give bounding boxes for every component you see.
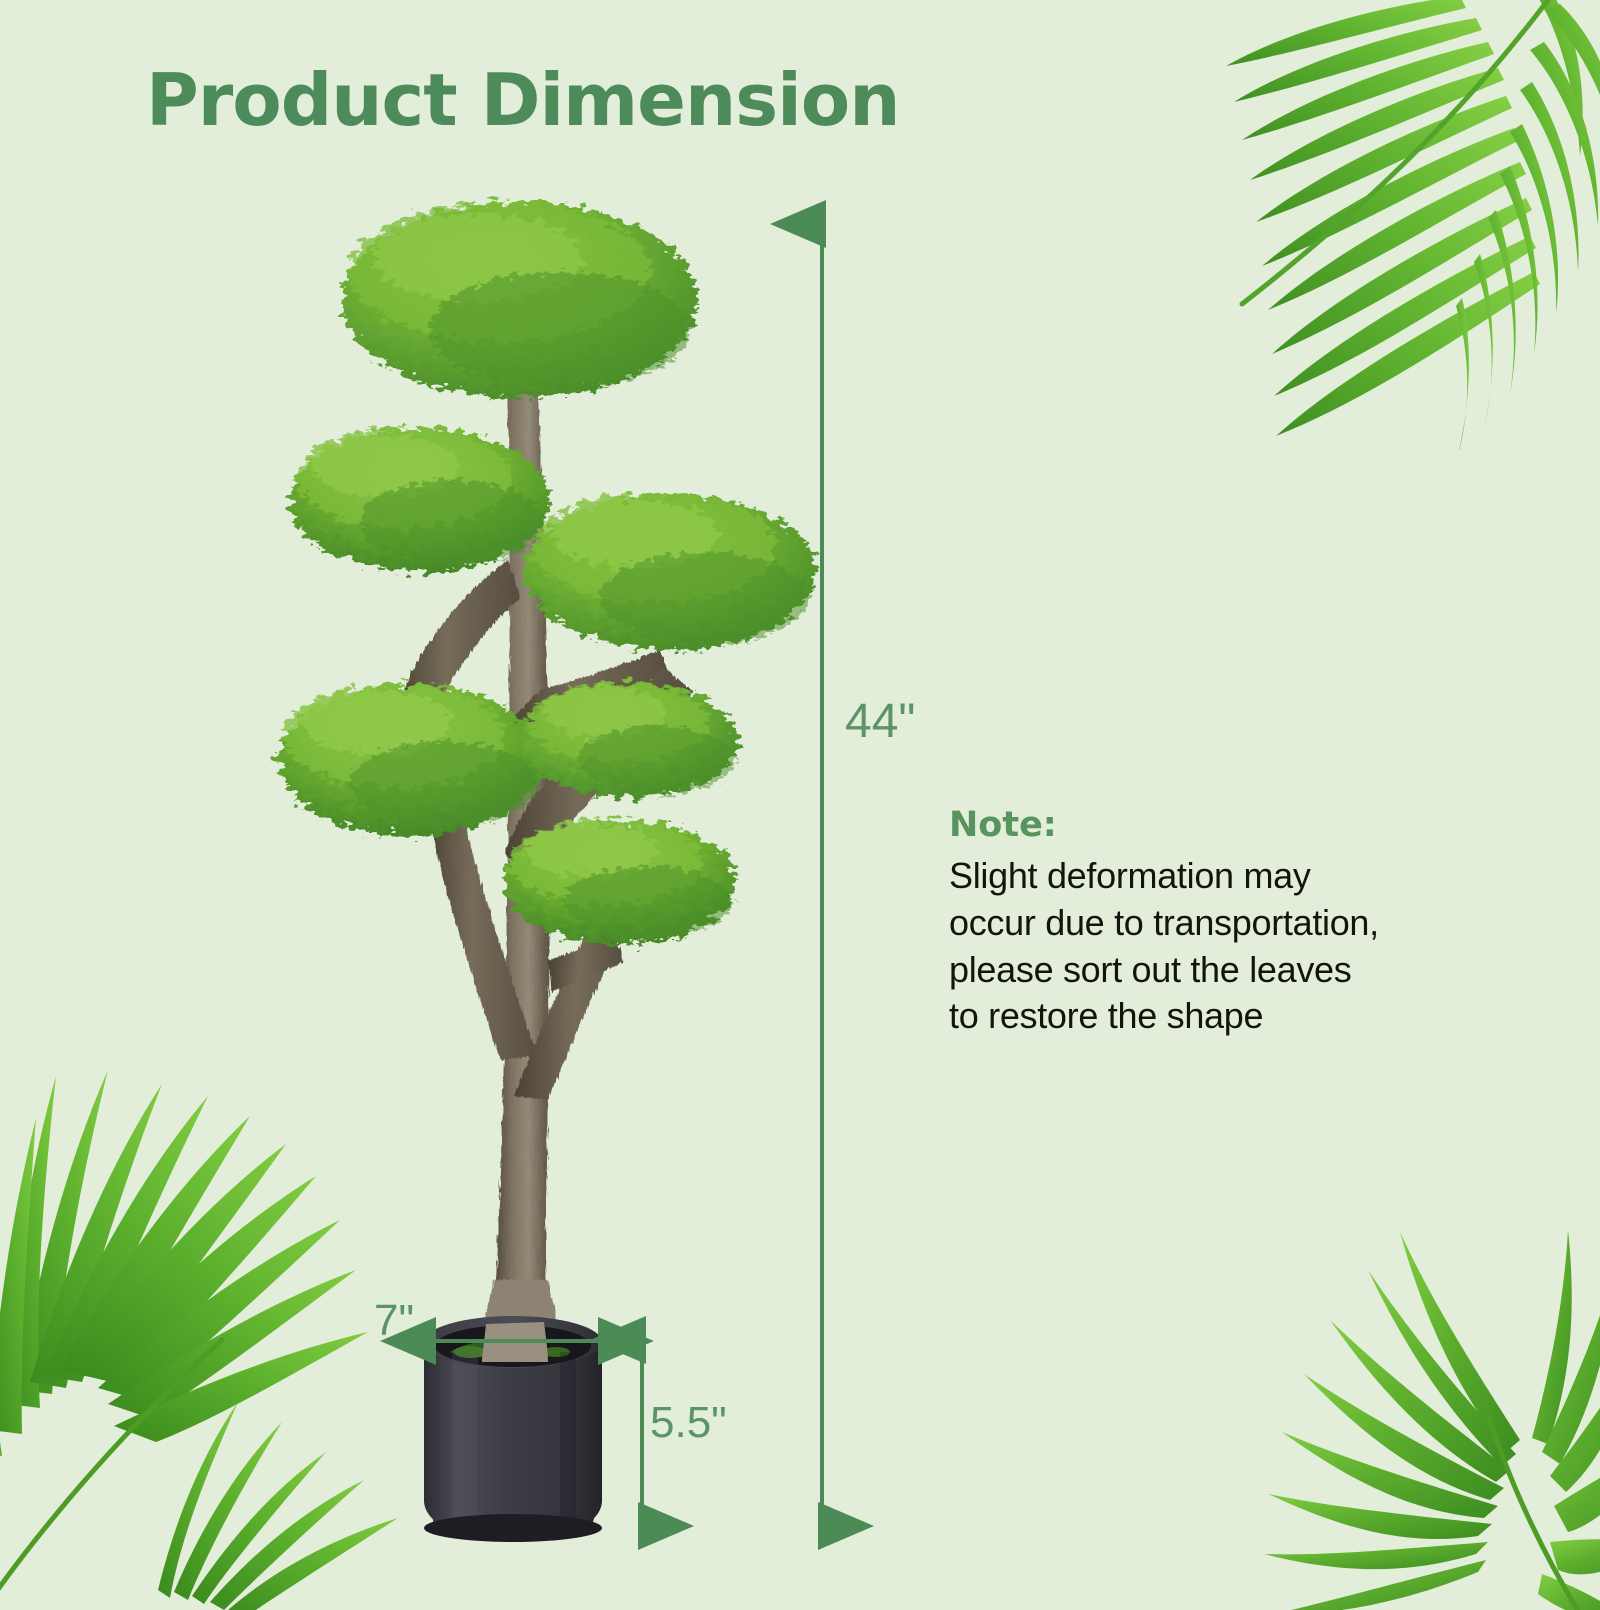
note-body: Slight deformation may occur due to tran… <box>949 853 1549 1040</box>
note-block: Note: Slight deformation may occur due t… <box>949 808 1549 1040</box>
note-heading: Note: <box>949 808 1549 843</box>
note-line-2: occur due to transportation, <box>949 900 1549 947</box>
dimension-label-pot-width: 7" <box>374 1296 414 1346</box>
note-line-3: please sort out the leaves <box>949 947 1549 994</box>
note-line-1: Slight deformation may <box>949 853 1549 900</box>
infographic-canvas: Product Dimension 44" 5.5" 7" Note: Slig… <box>0 0 1600 1600</box>
page-title: Product Dimension <box>146 58 900 142</box>
note-line-4: to restore the shape <box>949 993 1549 1040</box>
dimension-annotations <box>0 0 1600 1600</box>
dimension-label-height: 44" <box>845 694 915 749</box>
dimension-label-pot-height: 5.5" <box>650 1398 727 1448</box>
